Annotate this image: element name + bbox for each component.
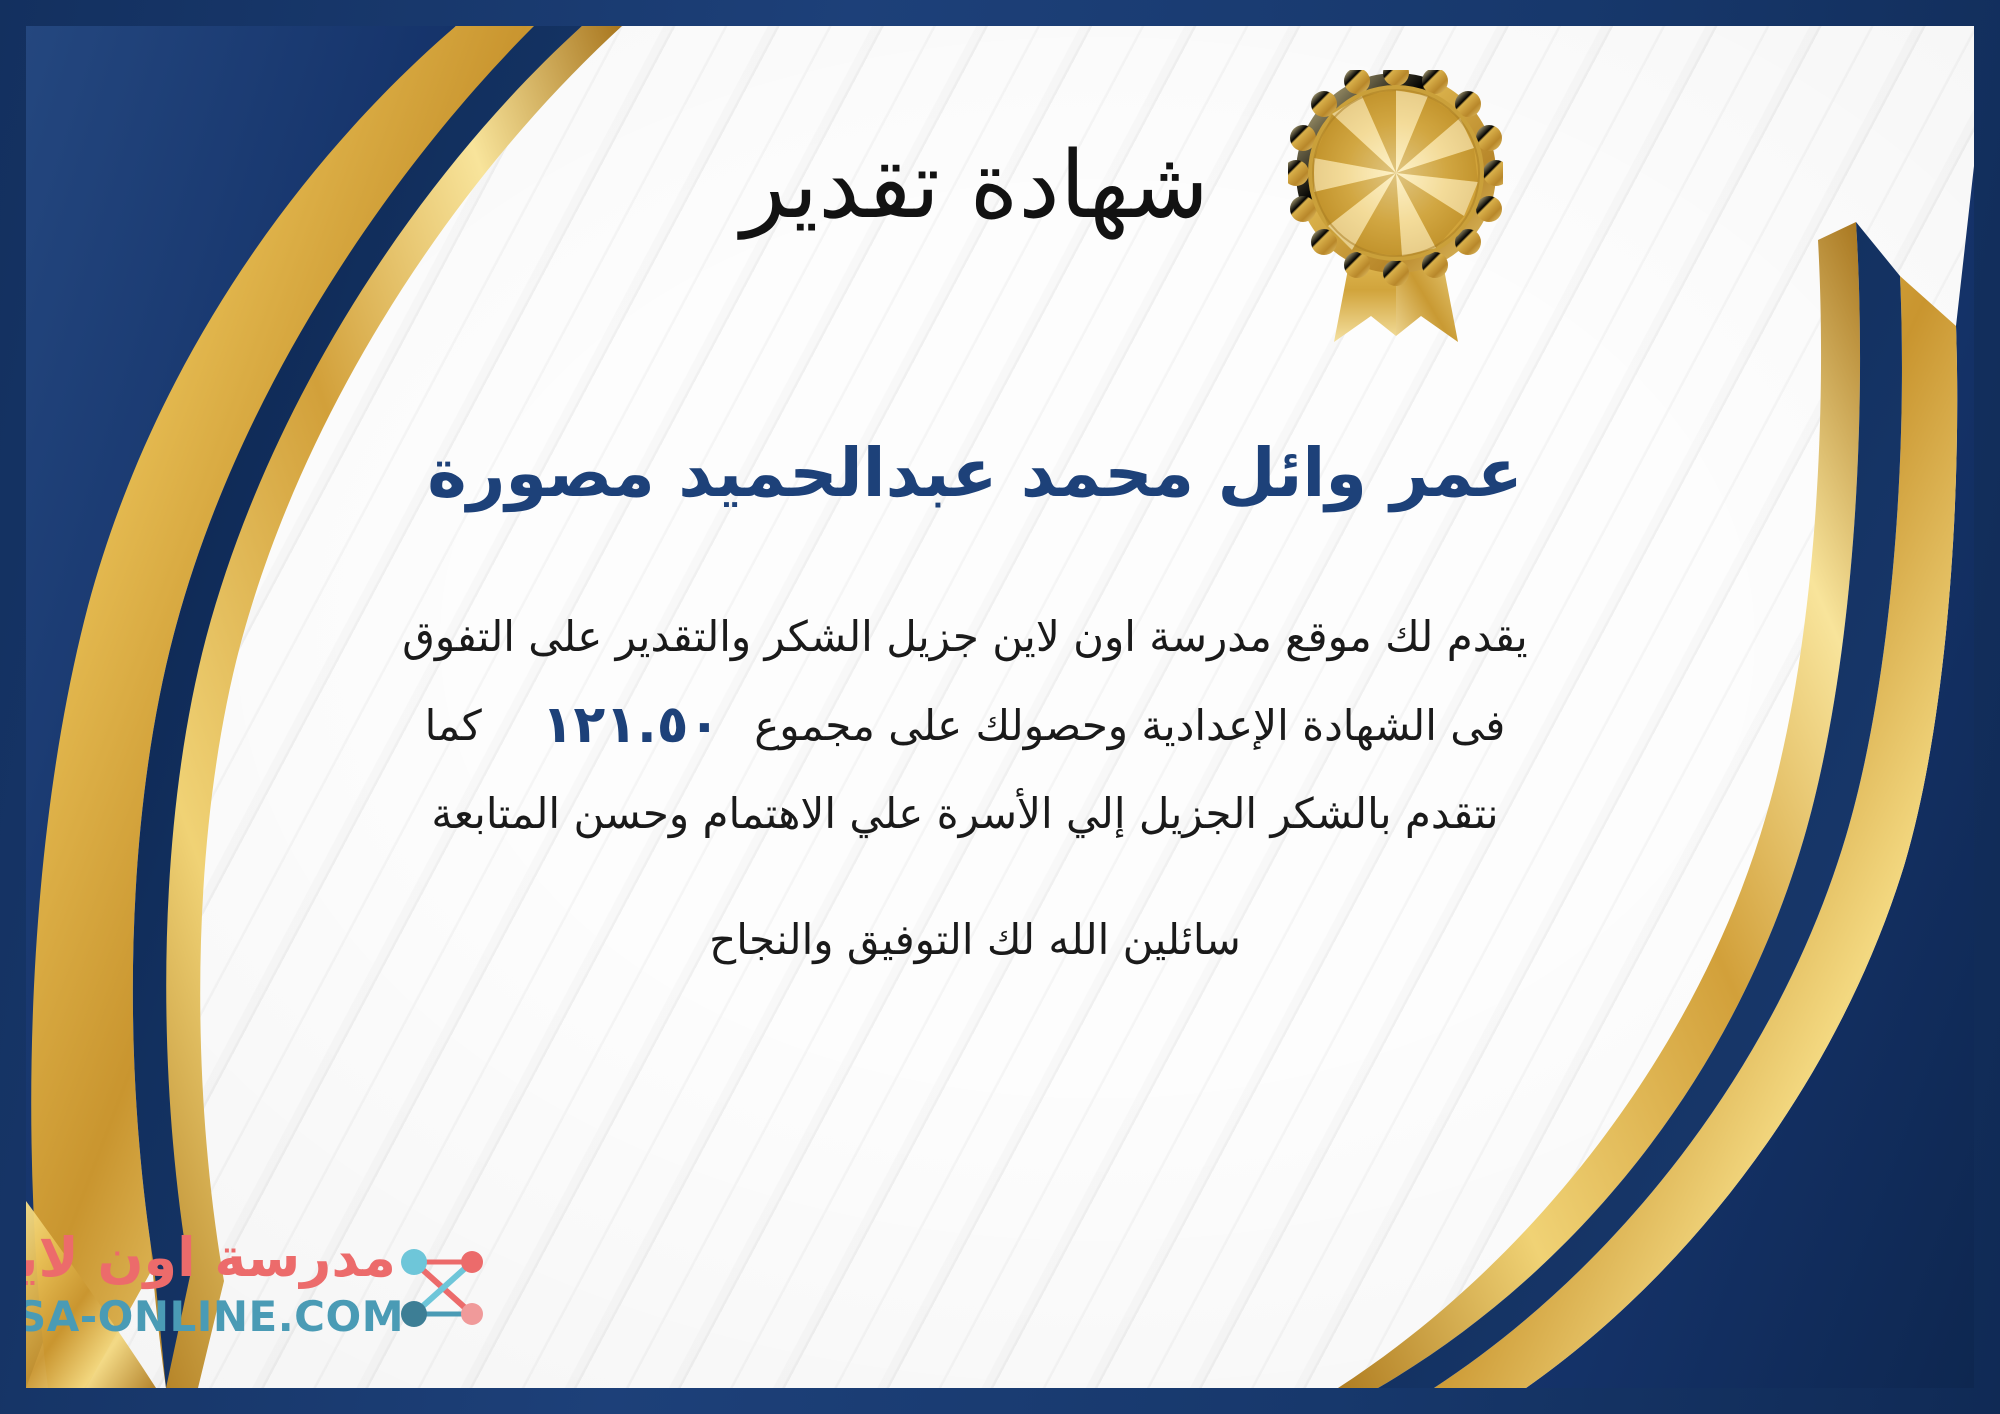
grade-total-value: ١٢١.٥٠	[508, 677, 754, 775]
brand-name-arabic: مدرسة اون لاين	[26, 1228, 396, 1287]
body-line-2-prefix: فى الشهادة الإعدادية وحصولك على مجموع	[754, 701, 1505, 750]
certificate-document: شهادة تقدير عمر وائل محمد عبدالحميد مصور…	[0, 0, 2000, 1414]
body-line-2: فى الشهادة الإعدادية وحصولك على مجموع١٢١…	[86, 677, 1844, 775]
body-line-2-suffix: كما	[425, 701, 482, 750]
recipient-name: عمر وائل محمد عبدالحميد مصورة	[146, 432, 1804, 516]
certificate-body: يقدم لك موقع مدرسة اون لاين جزيل الشكر و…	[86, 598, 1844, 854]
closing-line: سائلين الله لك التوفيق والنجاح	[146, 906, 1804, 973]
body-line-1: يقدم لك موقع مدرسة اون لاين جزيل الشكر و…	[86, 598, 1844, 677]
network-nodes-svg	[388, 1236, 500, 1348]
certificate-content: شهادة تقدير عمر وائل محمد عبدالحميد مصور…	[146, 26, 1804, 1388]
body-line-3: نتقدم بالشكر الجزيل إلي الأسرة علي الاهت…	[86, 775, 1844, 854]
brand-name-english: MADRSA-ONLINE.COM	[26, 1292, 404, 1341]
brand-logo[interactable]: مدرسة اون لاين MADRSA-ONLINE.COM	[56, 1222, 516, 1362]
network-nodes-icon	[388, 1236, 500, 1348]
certificate-page: شهادة تقدير عمر وائل محمد عبدالحميد مصور…	[26, 26, 1974, 1388]
certificate-title: شهادة تقدير	[146, 134, 1804, 236]
